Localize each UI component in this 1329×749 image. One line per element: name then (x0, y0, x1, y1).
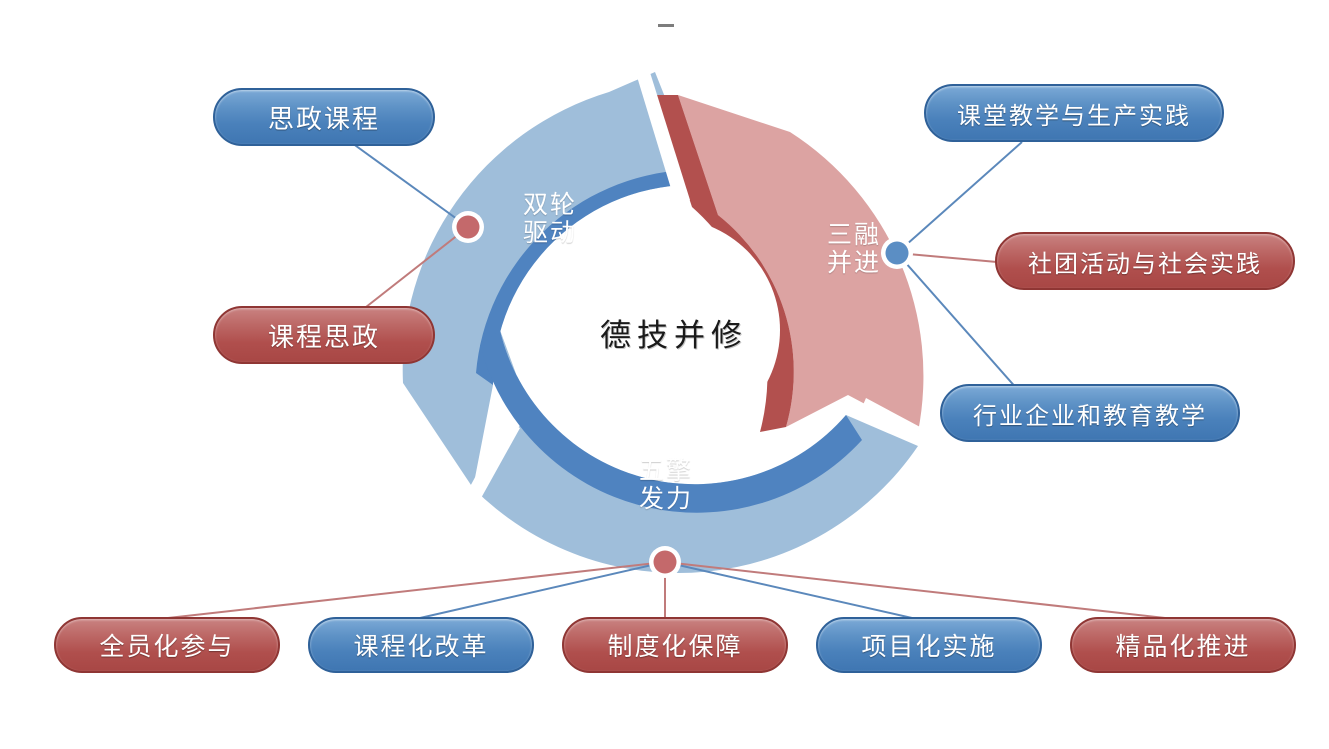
pill-label: 思政课程 (268, 99, 380, 136)
connector-line-sizheng-kecheng (352, 143, 468, 227)
top-dash-mark (658, 24, 674, 27)
diagram-canvas: 双轮 驱动 三融 并进 五擎 发力 德技并修 思政课程 课程思政 课堂教学与生产… (0, 0, 1329, 749)
pill-ketang-jiaoxue-shengchan-shijian[interactable]: 课堂教学与生产实践 (924, 84, 1224, 142)
pill-label: 项目化实施 (861, 627, 996, 663)
pill-label: 课堂教学与生产实践 (957, 96, 1191, 131)
connector-line-xiangmuhua (665, 562, 912, 618)
pill-label: 行业企业和教育教学 (973, 396, 1207, 431)
pill-kecheng-sizheng[interactable]: 课程思政 (213, 306, 435, 364)
pill-quanyuanhua-canyu[interactable]: 全员化参与 (54, 617, 280, 673)
connector-line-kechenghua (420, 562, 665, 618)
connector-line-ketang-jiaoxue (897, 142, 1022, 253)
pill-hangye-qiye-jiaoyu-jiaoxue[interactable]: 行业企业和教育教学 (940, 384, 1240, 442)
pill-label: 全员化参与 (99, 627, 234, 663)
pill-label: 课程化改革 (353, 627, 488, 663)
connector-line-jingpinhua (665, 562, 1165, 618)
connector-line-shetuan-huodong (897, 253, 1008, 263)
pill-kechenghua-gaige[interactable]: 课程化改革 (308, 617, 534, 673)
pill-label: 课程思政 (268, 317, 380, 354)
pill-shetuan-huodong-shehui-shijian[interactable]: 社团活动与社会实践 (995, 232, 1295, 290)
pill-sizheng-kecheng[interactable]: 思政课程 (213, 88, 435, 146)
connector-line-quanyuanhua (168, 562, 665, 618)
pill-zhiduhua-baozhang[interactable]: 制度化保障 (562, 617, 788, 673)
center-core-label: 德技并修 (600, 310, 748, 355)
pill-label: 精品化推进 (1115, 627, 1250, 663)
pill-jingpinhua-tuijin[interactable]: 精品化推进 (1070, 617, 1296, 673)
pill-xiangmuhua-shishi[interactable]: 项目化实施 (816, 617, 1042, 673)
pill-label: 社团活动与社会实践 (1028, 244, 1262, 279)
pill-label: 制度化保障 (607, 627, 742, 663)
